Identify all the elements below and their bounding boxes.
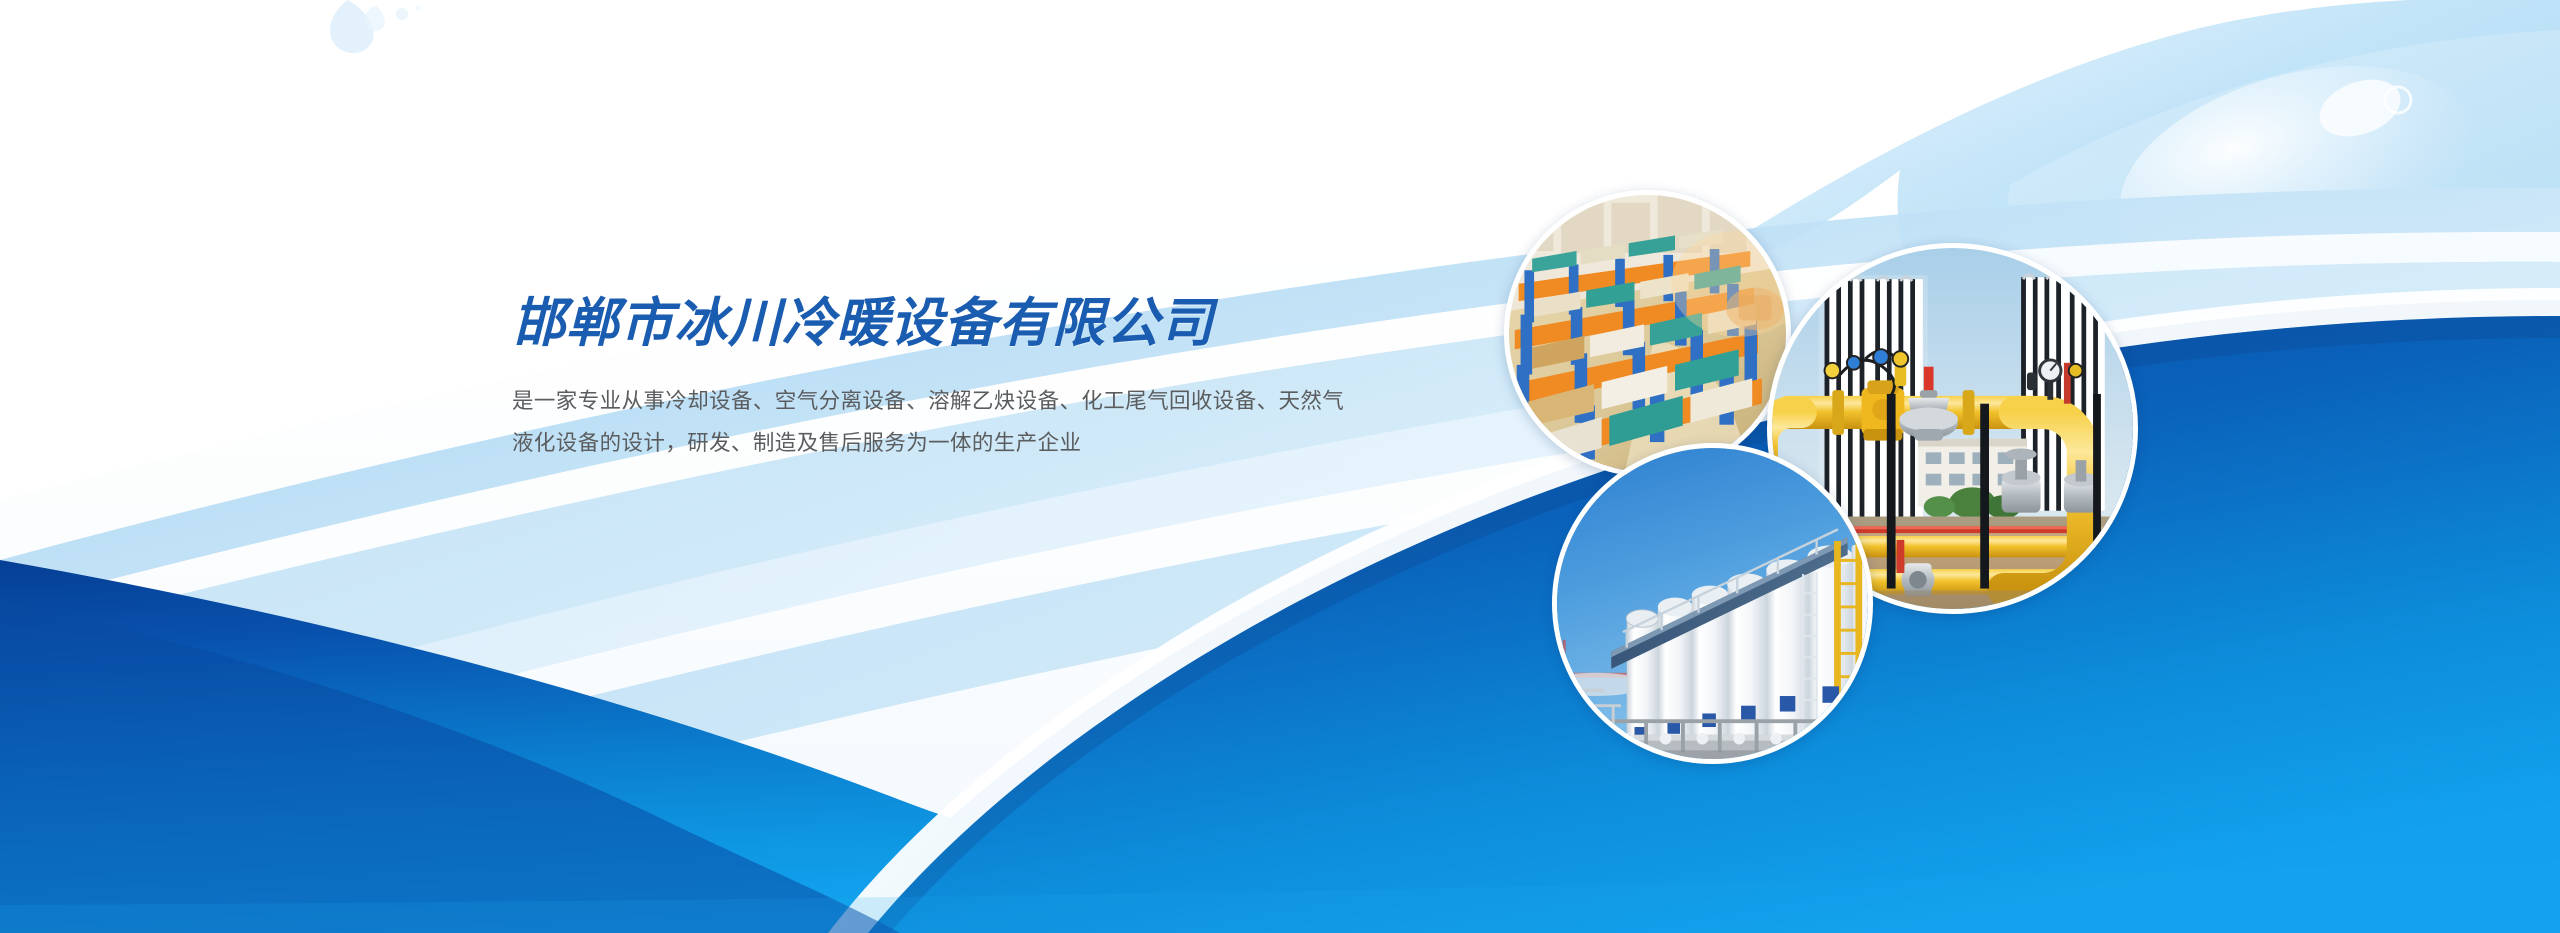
background-wave-artwork bbox=[0, 0, 2560, 933]
page-title: 邯郸市冰川冷暖设备有限公司 bbox=[512, 295, 1512, 353]
warehouse-photo-image bbox=[1509, 195, 1786, 472]
banner-text-block: 邯郸市冰川冷暖设备有限公司 是一家专业从事冷却设备、空气分离设备、溶解乙炔设备、… bbox=[512, 295, 1512, 465]
photo-cryogenic-storage-tanks bbox=[1552, 443, 1873, 764]
tanks-photo-image bbox=[1557, 448, 1868, 759]
description-line-2: 液化设备的设计，研发、制造及售后服务为一体的生产企业 bbox=[512, 423, 1512, 465]
company-banner: 邯郸市冰川冷暖设备有限公司 是一家专业从事冷却设备、空气分离设备、溶解乙炔设备、… bbox=[0, 0, 2560, 933]
description-line-1: 是一家专业从事冷却设备、空气分离设备、溶解乙炔设备、化工尾气回收设备、天然气 bbox=[512, 381, 1512, 423]
photo-warehouse-storage bbox=[1504, 190, 1791, 477]
company-description: 是一家专业从事冷却设备、空气分离设备、溶解乙炔设备、化工尾气回收设备、天然气 液… bbox=[512, 381, 1512, 465]
